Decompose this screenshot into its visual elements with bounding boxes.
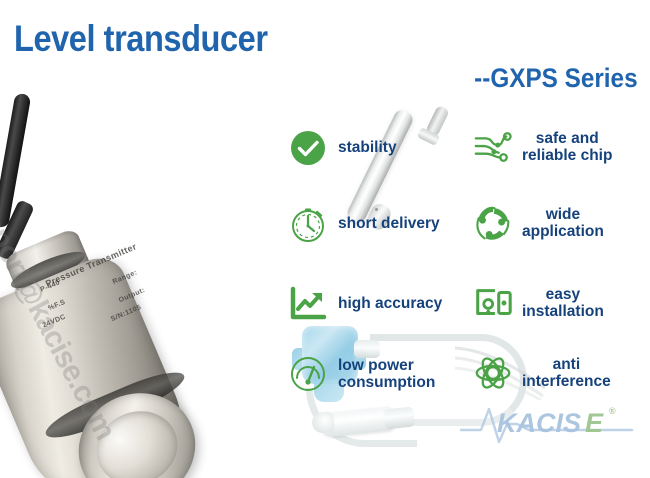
feature-label: short delivery — [338, 215, 440, 232]
feature-item-short-delivery: short delivery — [286, 202, 461, 246]
kacise-wordmark: KACIS — [497, 408, 581, 438]
recycle-arrows-icon — [472, 202, 514, 244]
check-circle-icon — [286, 126, 330, 170]
feature-item-low-power: low power consumption — [286, 352, 461, 396]
transducer-cable — [0, 93, 31, 229]
atom-icon — [472, 352, 514, 394]
svg-text:E: E — [585, 408, 604, 438]
page-title: Level transducer — [14, 18, 268, 60]
stopwatch-icon — [286, 202, 330, 246]
circuit-chip-icon — [472, 126, 514, 168]
kacise-brand-watermark: KACIS E ® — [459, 396, 634, 448]
feature-item-easy-installation: easy installation — [472, 282, 647, 324]
feature-label: high accuracy — [338, 295, 442, 312]
feature-label: safe and reliable chip — [522, 130, 612, 165]
feature-item-anti-interference: anti interference — [472, 352, 647, 394]
page-subtitle: --GXPS Series — [475, 63, 638, 94]
feature-label: wide application — [522, 206, 604, 241]
engraving-line-2: Range: — [112, 269, 139, 286]
feature-item-safe-reliable-chip: safe and reliable chip — [472, 126, 647, 168]
poster-canvas: Pressure Transmitter Range: P-440 Output… — [0, 0, 650, 478]
engraving-line-7: S/N:1105 — [110, 304, 143, 323]
email-watermark: support@kacise.com — [0, 178, 122, 445]
engraving-line-4: Output: — [118, 287, 147, 304]
feature-item-stability: stability — [286, 126, 461, 170]
growth-chart-icon — [286, 282, 330, 326]
feature-item-wide-application: wide application — [472, 202, 647, 244]
feature-label: low power consumption — [338, 357, 435, 392]
feature-item-high-accuracy: high accuracy — [286, 282, 461, 326]
device-install-icon — [472, 282, 514, 324]
feature-label: anti interference — [522, 356, 611, 391]
feature-label: stability — [338, 139, 397, 156]
feature-list: stability short delivery high accuracy — [286, 126, 646, 422]
svg-text:®: ® — [609, 406, 616, 416]
gauge-icon — [286, 352, 330, 396]
feature-label: easy installation — [522, 286, 604, 321]
engraving-line-1: Pressure Transmitter — [44, 241, 138, 289]
